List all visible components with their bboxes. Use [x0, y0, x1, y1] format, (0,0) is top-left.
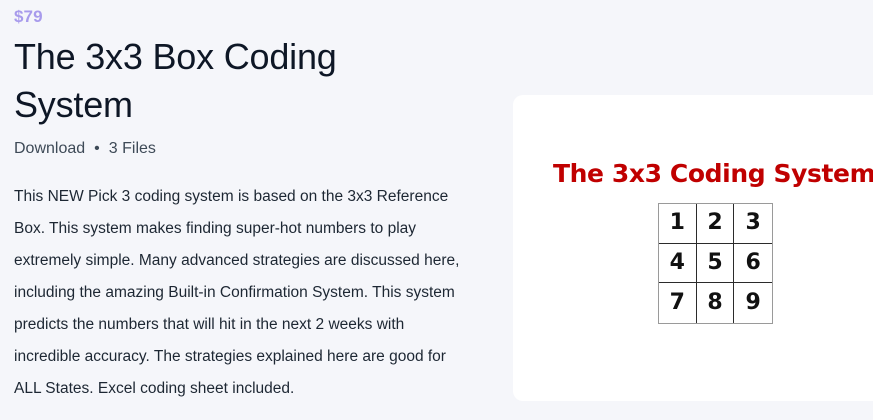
- grid-cell: 1: [659, 204, 697, 244]
- product-file-count: 3 Files: [109, 138, 156, 160]
- grid-cell: 4: [659, 244, 697, 284]
- product-meta: Download • 3 Files: [14, 138, 484, 160]
- product-description: This NEW Pick 3 coding system is based o…: [14, 181, 466, 405]
- grid-cell: 8: [697, 283, 735, 323]
- product-info-pane: $79 The 3x3 Box Coding System Download •…: [0, 0, 500, 420]
- product-price: $79: [14, 6, 484, 28]
- grid-cell: 7: [659, 283, 697, 323]
- meta-separator-dot: •: [94, 138, 100, 160]
- page-title: The 3x3 Box Coding System: [14, 33, 414, 129]
- product-type-label: Download: [14, 138, 85, 160]
- grid-cell: 5: [697, 244, 735, 284]
- coding-grid: 1 2 3 4 5 6 7 8 9: [658, 203, 773, 324]
- grid-cell: 3: [734, 204, 772, 244]
- grid-cell: 2: [697, 204, 735, 244]
- preview-image: The 3x3 Coding System 1 2 3 4 5 6 7 8 9: [513, 95, 873, 401]
- grid-cell: 6: [734, 244, 772, 284]
- preview-heading: The 3x3 Coding System: [553, 159, 865, 188]
- product-preview-card[interactable]: The 3x3 Coding System 1 2 3 4 5 6 7 8 9: [513, 95, 873, 401]
- grid-cell: 9: [734, 283, 772, 323]
